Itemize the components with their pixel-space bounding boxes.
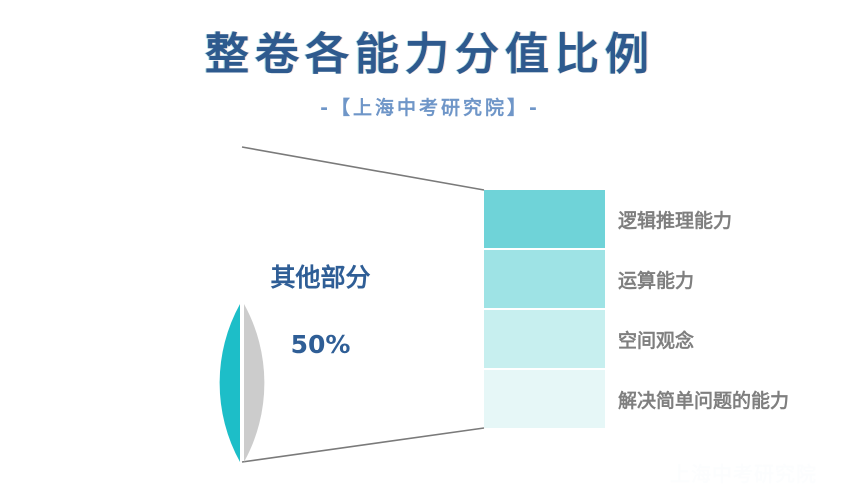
legend-swatch-problem-solving: [484, 370, 605, 428]
legend-item-computation[interactable]: 运算能力: [484, 250, 844, 308]
wechat-icon: [636, 460, 662, 486]
pie-slice-basic-knowledge[interactable]: [220, 304, 240, 462]
legend-label-problem-solving: 解决简单问题的能力: [618, 370, 789, 428]
legend-label-logic: 逻辑推理能力: [618, 190, 732, 248]
legend-swatch-logic: [484, 190, 605, 248]
legend-label-computation: 运算能力: [618, 250, 694, 308]
page-title: 整卷各能力分值比例: [0, 18, 860, 82]
legend-swatch-computation: [484, 250, 605, 308]
slide-canvas: 整卷各能力分值比例 -【上海中考研究院】- 基础知识 和基本技巧 50% 其他部…: [0, 0, 860, 500]
watermark: 上海中考研究院: [636, 458, 817, 487]
pie-chart: [88, 146, 395, 463]
watermark-text: 上海中考研究院: [670, 458, 817, 487]
legend-item-logic[interactable]: 逻辑推理能力: [484, 190, 844, 248]
page-subtitle: -【上海中考研究院】-: [0, 93, 860, 120]
legend-item-spatial[interactable]: 空间观念: [484, 310, 844, 368]
legend-label-spatial: 空间观念: [618, 310, 694, 368]
legend-item-problem-solving[interactable]: 解决简单问题的能力: [484, 370, 844, 428]
legend-swatch-spatial: [484, 310, 605, 368]
pie-slice-other[interactable]: [244, 304, 264, 462]
legend-list: 逻辑推理能力 运算能力 空间观念 解决简单问题的能力: [484, 190, 844, 430]
